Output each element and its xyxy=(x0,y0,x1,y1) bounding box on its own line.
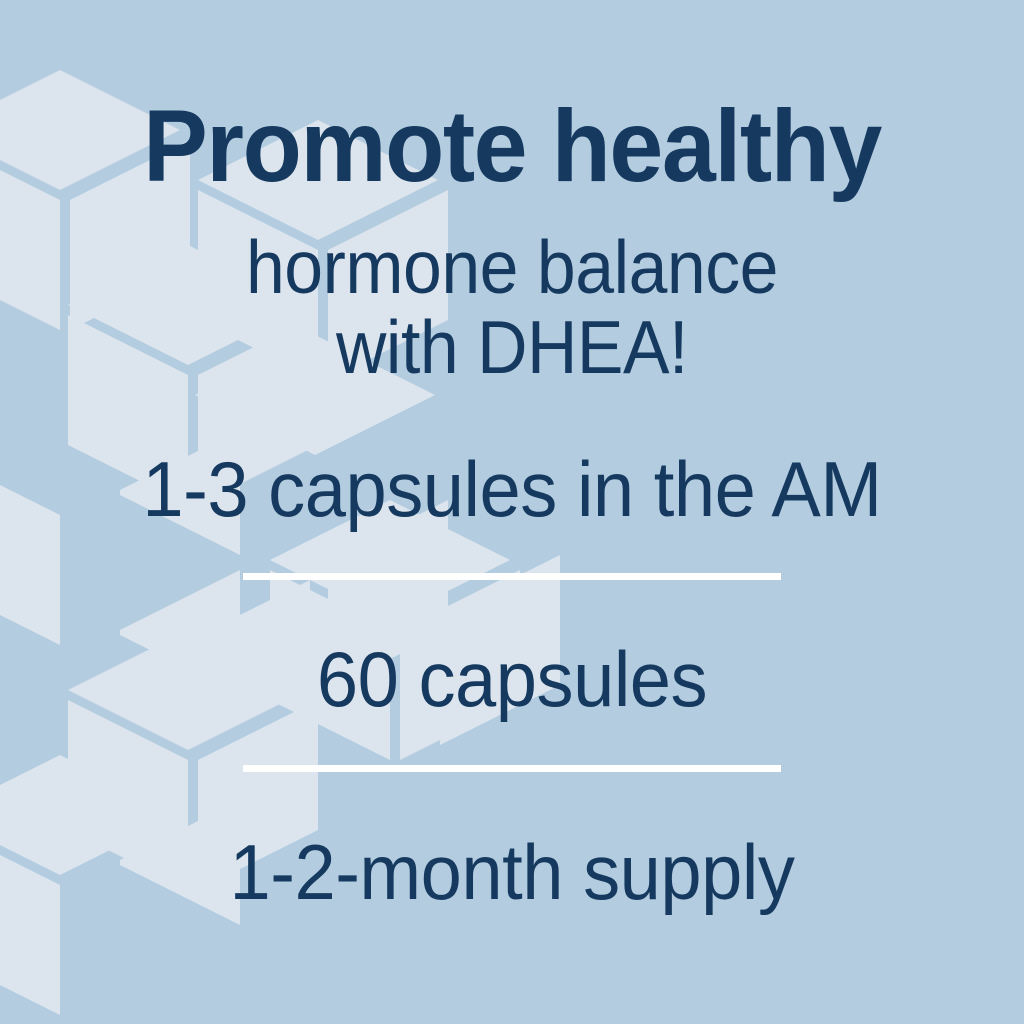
divider-bottom xyxy=(243,765,781,772)
subheadline-line-2: with DHEA! xyxy=(36,308,988,388)
poster-content: Promote healthy hormone balance with DHE… xyxy=(0,0,1024,1024)
fact-capsule-count: 60 capsules xyxy=(26,640,999,718)
subheadline-line-1: hormone balance xyxy=(36,228,988,308)
product-info-poster: Promote healthy hormone balance with DHE… xyxy=(0,0,1024,1024)
fact-supply-duration: 1-2-month supply xyxy=(26,833,999,911)
subheadline: hormone balance with DHEA! xyxy=(36,228,988,387)
divider-top xyxy=(243,573,781,580)
fact-dosage: 1-3 capsules in the AM xyxy=(26,450,999,528)
page-title: Promote healthy xyxy=(26,95,999,197)
